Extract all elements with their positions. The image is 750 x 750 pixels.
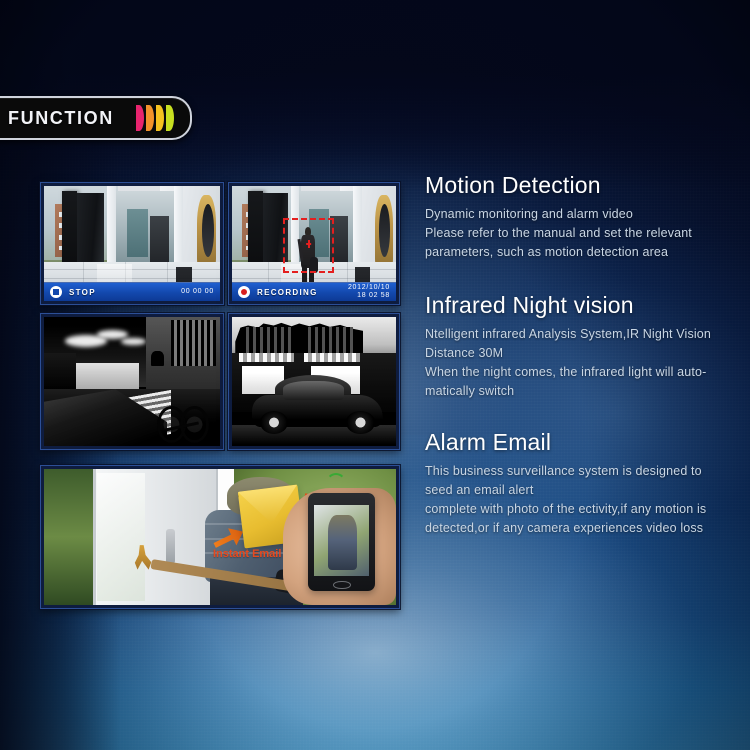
osd-date: 2012/10/10 [348, 284, 390, 291]
car-wheel-rear [346, 411, 375, 435]
wifi-signal-icon [294, 472, 378, 494]
feature-line: When the night comes, the infrared light… [425, 365, 706, 379]
night-frame-street [44, 317, 220, 446]
feature-line: Distance 30M [425, 346, 503, 360]
scene-interior-door [127, 209, 148, 257]
feature-line: Ntelligent infrared Analysis System,IR N… [425, 327, 711, 341]
osd-time: 18 02 58 [357, 292, 390, 299]
feature-line: detected,or if any camera experiences vi… [425, 521, 703, 535]
video-frame-stop: STOP 00 00 00 [44, 186, 220, 301]
feature-line: This business surveillance system is des… [425, 464, 702, 478]
panel-motion-detection-stop[interactable]: STOP 00 00 00 [40, 182, 224, 305]
panel-alarm-email[interactable]: Instant Email [40, 465, 400, 609]
phone-screen-burglar [328, 515, 357, 570]
scene-night-street [44, 317, 220, 446]
car-window [283, 381, 343, 400]
alarm-email-frame: Instant Email [44, 469, 396, 605]
scene-window-bars [171, 320, 217, 366]
function-banner: FUNCTION [0, 96, 192, 140]
feature-title-alarm-email: Alarm Email [425, 429, 743, 456]
feature-line: seed an email alert [425, 483, 533, 497]
chevron-group-icon [136, 105, 174, 131]
panel-night-vision-street[interactable] [40, 313, 224, 450]
feature-line: Please refer to the manual and set the r… [425, 226, 692, 240]
phone-screen [314, 505, 369, 575]
promo-page: FUNCTION [0, 0, 750, 750]
feature-title-infrared-night-vision: Infrared Night vision [425, 292, 743, 319]
scene-column-2 [174, 186, 183, 269]
feature-body-infrared-night-vision: Ntelligent infrared Analysis System,IR N… [425, 325, 743, 401]
scene-door-handle [166, 529, 176, 564]
scene-night-building [232, 317, 396, 446]
chevron-icon-2 [146, 105, 154, 131]
osd-bar-recording: RECORDING 2012/10/10 18 02 58 [232, 282, 396, 301]
scene-awning-left [239, 353, 295, 362]
scene-alarm-email: Instant Email [44, 469, 396, 605]
smartphone-icon [308, 493, 375, 591]
night-frame-car [232, 317, 396, 446]
panel-motion-detection-recording[interactable]: RECORDING 2012/10/10 18 02 58 [228, 182, 400, 305]
video-frame-recording: RECORDING 2012/10/10 18 02 58 [232, 186, 396, 301]
scene-wall-lamp [151, 351, 163, 366]
scene-balcony-left [242, 327, 291, 353]
scene-parked-car [252, 375, 383, 434]
feature-block-motion-detection: Motion Detection Dynamic monitoring and … [425, 172, 743, 262]
osd-timestamp: 2012/10/10 18 02 58 [348, 284, 390, 300]
feature-line: matically switch [425, 384, 514, 398]
record-dot-icon [238, 286, 250, 298]
scene-bicycle [157, 405, 210, 444]
chevron-icon-4 [166, 105, 174, 131]
feature-block-alarm-email: Alarm Email This business surveillance s… [425, 429, 743, 538]
feature-line: Dynamic monitoring and alarm video [425, 207, 633, 221]
scene-dark-sculpture [202, 204, 214, 257]
scene-dark-recess [150, 216, 169, 262]
feature-title-motion-detection: Motion Detection [425, 172, 743, 199]
chevron-icon-3 [156, 105, 164, 131]
instant-email-caption: Instant Email [213, 548, 281, 560]
scene-column-2 [353, 186, 361, 269]
scene-door-glass [97, 473, 145, 601]
osd-timer: 00 00 00 [181, 288, 214, 296]
scene-balcony-right [304, 327, 353, 353]
car-wheel-front [260, 411, 289, 435]
motion-detection-box [283, 218, 335, 273]
phone-home-button [333, 581, 351, 590]
stop-square-icon [50, 286, 62, 298]
feature-body-motion-detection: Dynamic monitoring and alarm video Pleas… [425, 205, 743, 262]
osd-status-label: STOP [69, 288, 96, 297]
scene-column-1 [107, 186, 116, 269]
panel-night-vision-car[interactable] [228, 313, 400, 450]
chevron-icon-1 [136, 105, 144, 131]
feature-body-alarm-email: This business surveillance system is des… [425, 462, 743, 538]
feature-block-infrared-night-vision: Infrared Night vision Ntelligent infrare… [425, 292, 743, 401]
scene-awning-right [304, 353, 360, 362]
feature-line: parameters, such as motion detection are… [425, 245, 668, 259]
osd-status-label: RECORDING [257, 288, 318, 297]
function-banner-label: FUNCTION [8, 108, 114, 129]
osd-bar-stop: STOP 00 00 00 [44, 282, 220, 301]
feature-line: complete with photo of the ectivity,if a… [425, 502, 706, 516]
feature-text-column: Motion Detection Dynamic monitoring and … [425, 172, 743, 554]
